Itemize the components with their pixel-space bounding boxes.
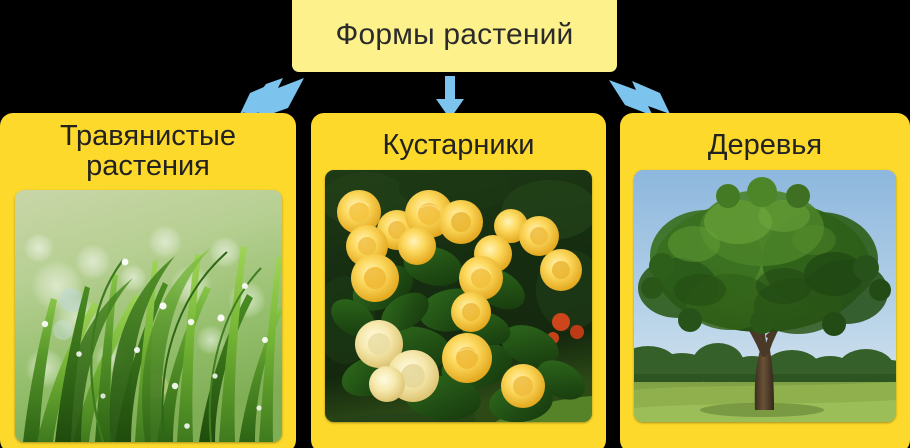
plant-forms-diagram: Формы растений Травянистые растения <box>0 0 910 448</box>
grass-with-dew-photo <box>15 190 282 442</box>
node-card-shrubs-label: Кустарники <box>383 131 535 161</box>
node-card-trees-label: Деревья <box>708 131 822 161</box>
yellow-rose-bush-photo <box>325 170 592 422</box>
node-card-trees[interactable]: Деревья <box>620 113 910 448</box>
node-card-herbs-label: Травянистые растения <box>60 122 236 181</box>
root-node-label: Формы растений <box>335 18 573 52</box>
node-card-herbs[interactable]: Травянистые растения <box>0 113 296 448</box>
node-card-shrubs[interactable]: Кустарники <box>311 113 606 448</box>
arrow-down-left-icon <box>238 76 306 118</box>
arrow-down-right-icon <box>604 76 672 118</box>
root-node-plant-forms[interactable]: Формы растений <box>292 0 617 72</box>
large-oak-tree-photo <box>634 170 896 422</box>
